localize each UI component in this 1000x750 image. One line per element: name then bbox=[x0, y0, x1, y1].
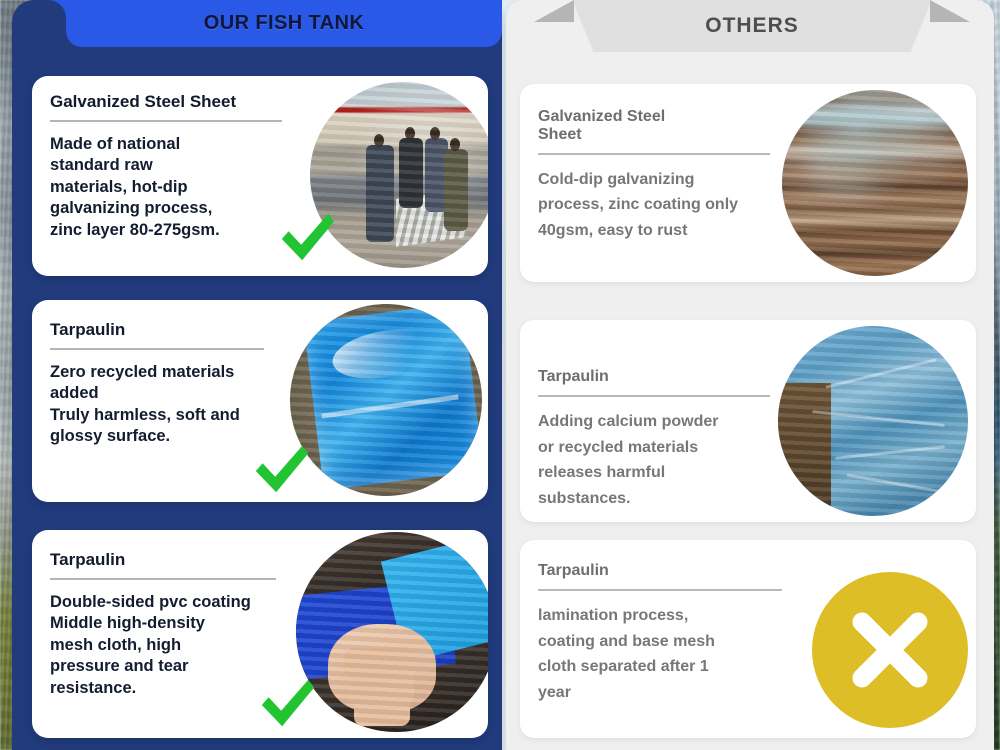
card-body: Adding calcium powder or recycled materi… bbox=[538, 409, 770, 511]
yellow-cross-badge bbox=[812, 572, 968, 728]
card-body: Made of national standard raw materials,… bbox=[50, 134, 282, 241]
ours-card-galvanized-steel-sheet[interactable]: Galvanized Steel Sheet Made of national … bbox=[32, 76, 488, 276]
dull-blue-crumpled-tarpaulin-photo bbox=[778, 326, 968, 516]
card-title: Galvanized Steel Sheet bbox=[50, 92, 282, 111]
others-card-galvanized-steel-sheet[interactable]: Galvanized Steel Sheet Cold-dip galvaniz… bbox=[520, 84, 976, 282]
card-body: Cold-dip galvanizing process, zinc coati… bbox=[538, 167, 770, 244]
card-title: Tarpaulin bbox=[538, 368, 770, 386]
tab-our-fish-tank[interactable]: OUR FISH TANK bbox=[66, 0, 502, 47]
glossy-blue-tarpaulin-photo bbox=[290, 304, 482, 496]
tab-our-fish-tank-label: OUR FISH TANK bbox=[204, 12, 364, 35]
others-card-tarpaulin-calcium-powder[interactable]: Tarpaulin Adding calcium powder or recyc… bbox=[520, 320, 976, 522]
title-divider bbox=[538, 589, 782, 591]
comparison-infographic: OUR FISH TANK Galvanized Steel Sheet Mad… bbox=[0, 0, 1000, 750]
card-title: Tarpaulin bbox=[50, 550, 276, 569]
tab-others-label: OTHERS bbox=[705, 14, 799, 38]
tab-others[interactable]: OTHERS bbox=[572, 0, 932, 52]
ours-card-tarpaulin-double-sided[interactable]: Tarpaulin Double-sided pvc coating Middl… bbox=[32, 530, 488, 738]
check-icon bbox=[276, 206, 338, 268]
ours-card-tarpaulin-zero-recycled[interactable]: Tarpaulin Zero recycled materials added … bbox=[32, 300, 488, 502]
cross-icon bbox=[838, 598, 942, 702]
card-title: Galvanized Steel Sheet bbox=[538, 108, 770, 144]
hand-peeling-pvc-coating-photo bbox=[296, 532, 488, 732]
card-body: lamination process, coating and base mes… bbox=[538, 603, 782, 705]
check-icon bbox=[250, 438, 312, 500]
card-body: Zero recycled materials added Truly harm… bbox=[50, 362, 264, 448]
title-divider bbox=[50, 120, 282, 122]
rusty-corrugated-sheet-photo bbox=[782, 90, 968, 276]
title-divider bbox=[50, 348, 264, 350]
title-divider bbox=[50, 578, 276, 580]
card-body: Double-sided pvc coating Middle high-den… bbox=[50, 592, 276, 699]
card-title: Tarpaulin bbox=[538, 562, 782, 580]
title-divider bbox=[538, 153, 770, 155]
check-icon bbox=[256, 672, 318, 734]
card-title: Tarpaulin bbox=[50, 320, 264, 339]
title-divider bbox=[538, 395, 770, 397]
